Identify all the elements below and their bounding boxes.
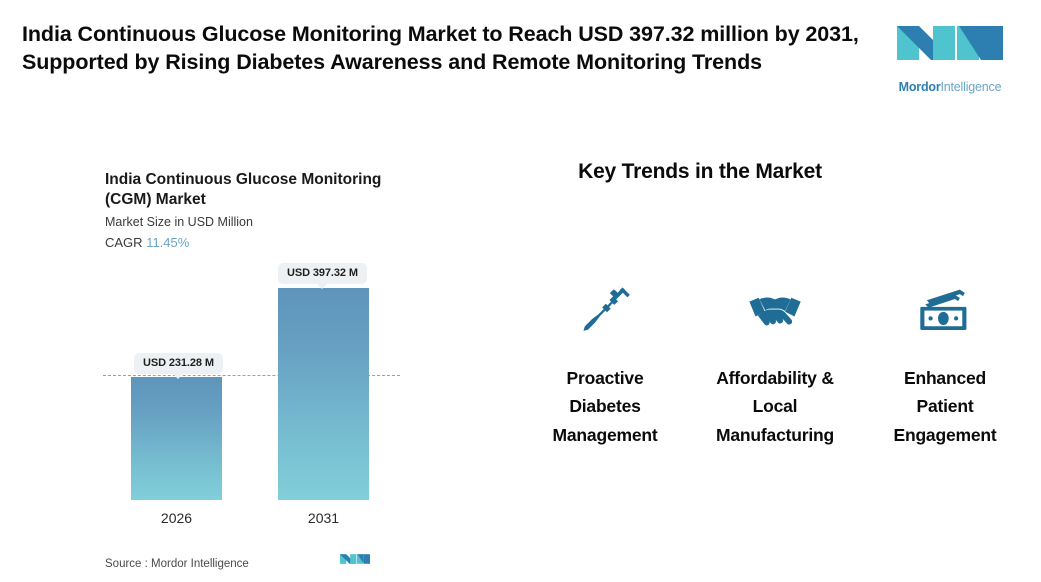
chart-source: Source : Mordor Intelligence — [105, 558, 249, 570]
key-trends-title: Key Trends in the Market — [500, 160, 900, 184]
trend-item-enhanced-patient-engagement: Enhanced Patient Engagement — [860, 280, 1030, 449]
trend-item-proactive-diabetes-management: Proactive Diabetes Management — [520, 280, 690, 449]
brand-logo-text: MordorIntelligence — [885, 80, 1015, 94]
banknotes-icon — [860, 280, 1030, 342]
x-axis-label-2026: 2026 — [131, 510, 222, 526]
bar-chart-plot: USD 231.28 M USD 397.32 M 2026 2031 — [0, 150, 470, 570]
key-trends-panel: Key Trends in the Market Proactive Diabe… — [500, 150, 1041, 570]
source-mordor-m-logo-icon — [340, 550, 370, 573]
brand-name-bold: Mordor — [899, 80, 941, 94]
trend-label-3: Enhanced Patient Engagement — [860, 364, 1030, 449]
brand-name-light: Intelligence — [941, 80, 1002, 94]
syringe-icon — [520, 280, 690, 342]
mordor-m-logo-icon — [885, 14, 1015, 77]
brand-logo: MordorIntelligence — [885, 14, 1015, 94]
bar-2026 — [131, 377, 222, 500]
trend-label-2: Affordability & Local Manufacturing — [690, 364, 860, 449]
bar-value-callout-2031: USD 397.32 M — [278, 263, 367, 284]
trend-item-affordability-local-manufacturing: Affordability & Local Manufacturing — [690, 280, 860, 449]
page-title: India Continuous Glucose Monitoring Mark… — [22, 20, 862, 77]
trend-label-1: Proactive Diabetes Management — [520, 364, 690, 449]
page-header: India Continuous Glucose Monitoring Mark… — [0, 0, 1041, 120]
key-trends-row: Proactive Diabetes Management Affordabil… — [520, 280, 1040, 449]
chart-panel: India Continuous Glucose Monitoring (CGM… — [0, 150, 470, 570]
bar-2031 — [278, 288, 369, 500]
bar-value-callout-2026: USD 231.28 M — [134, 353, 223, 374]
x-axis-label-2031: 2031 — [278, 510, 369, 526]
handshake-icon — [690, 280, 860, 342]
